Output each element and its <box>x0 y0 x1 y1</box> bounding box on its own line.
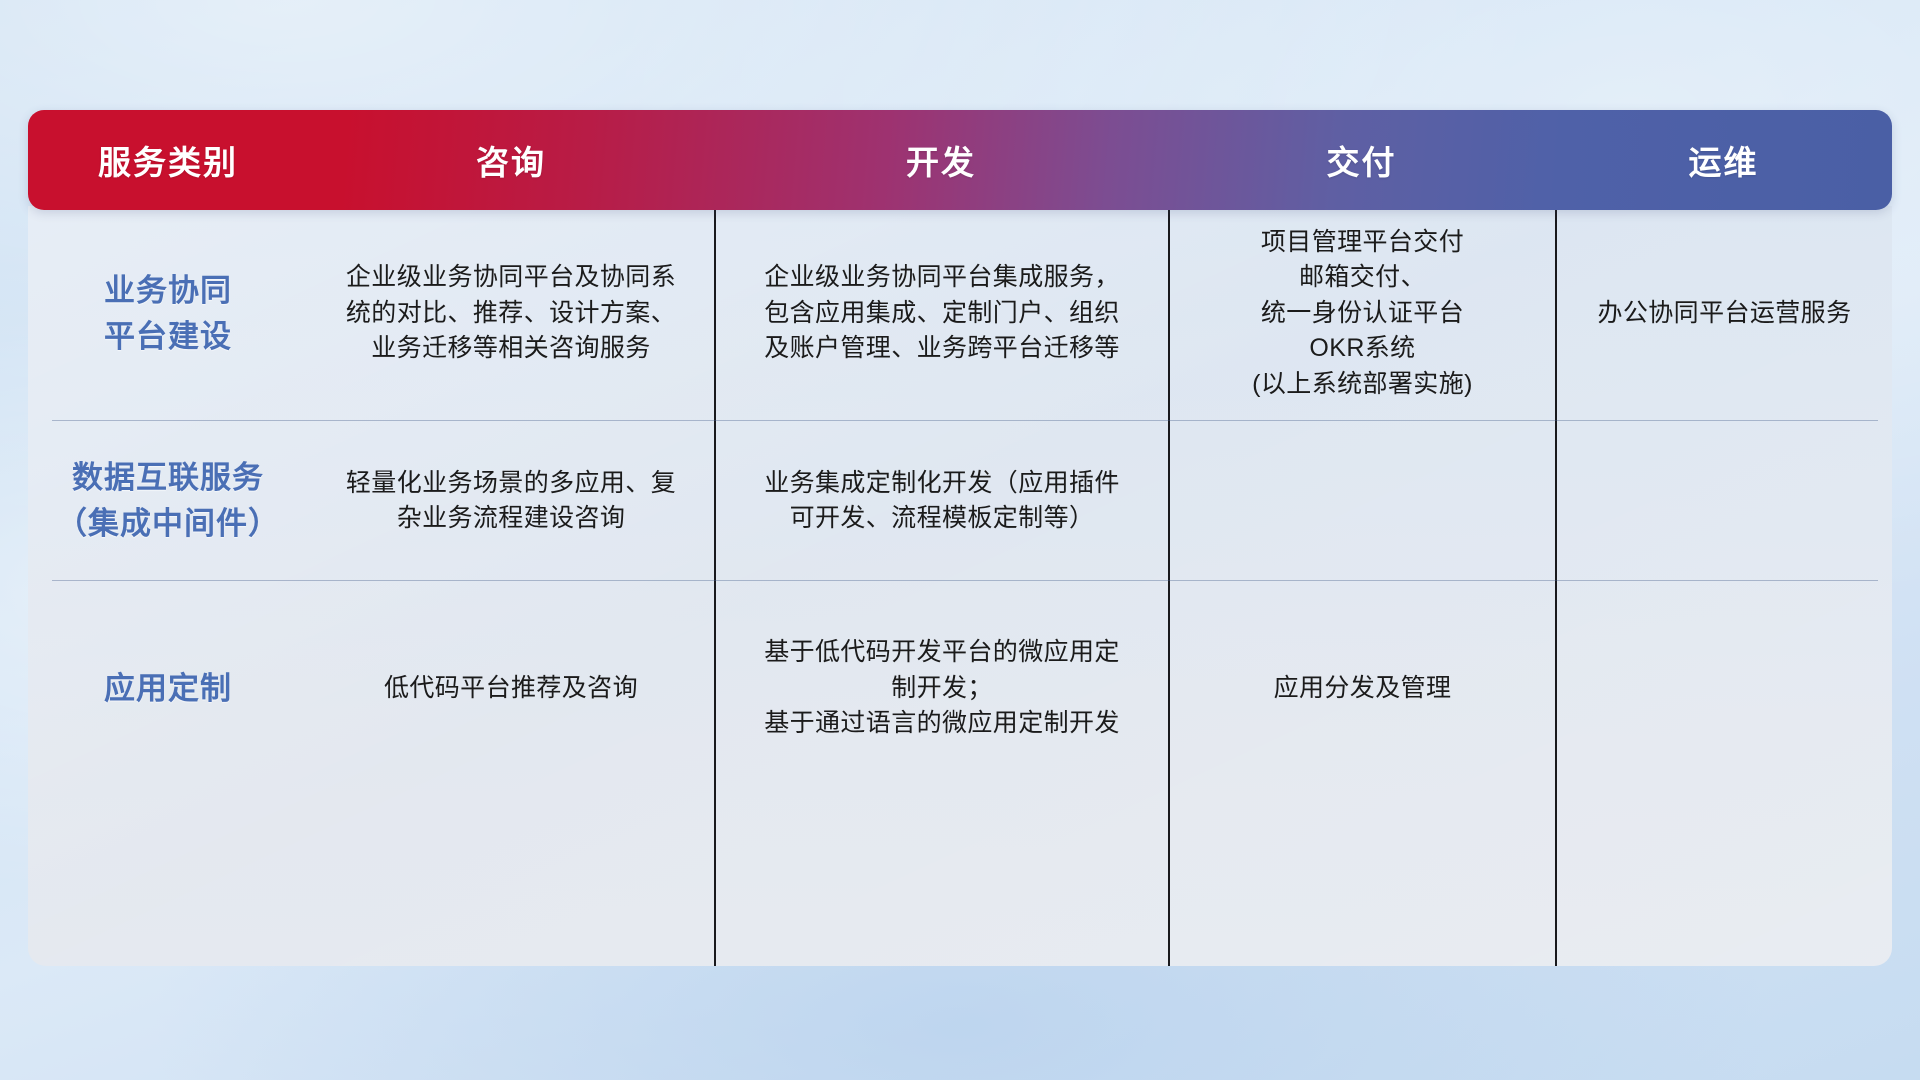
table-bottom-filler <box>28 796 1892 966</box>
table-row: 业务协同 平台建设 企业级业务协同平台及协同系 统的对比、推荐、设计方案、 业务… <box>28 206 1892 421</box>
cell-consulting-row-1: 企业级业务协同平台及协同系 统的对比、推荐、设计方案、 业务迁移等相关咨询服务 <box>308 206 714 421</box>
table-row: 应用定制 低代码平台推荐及咨询 基于低代码开发平台的微应用定 制开发； 基于通过… <box>28 581 1892 796</box>
cell-operations-row-2 <box>1555 421 1892 581</box>
column-header-service-category: 服务类别 <box>28 110 308 210</box>
table-body: 业务协同 平台建设 企业级业务协同平台及协同系 统的对比、推荐、设计方案、 业务… <box>28 206 1892 966</box>
table-header-row: 服务类别 咨询 开发 交付 运维 <box>28 110 1892 210</box>
row-label-app-customization: 应用定制 <box>28 581 308 796</box>
filler-col-0 <box>28 796 308 966</box>
cell-development-row-1: 企业级业务协同平台集成服务， 包含应用集成、定制门户、组织 及账户管理、业务跨平… <box>714 206 1168 421</box>
cell-development-row-2: 业务集成定制化开发（应用插件 可开发、流程模板定制等） <box>714 421 1168 581</box>
filler-col-3 <box>1168 796 1555 966</box>
row-label-business-collaboration: 业务协同 平台建设 <box>28 206 308 421</box>
filler-col-2 <box>714 796 1168 966</box>
table-row: 数据互联服务 （集成中间件） 轻量化业务场景的多应用、复 杂业务流程建设咨询 业… <box>28 421 1892 581</box>
column-header-delivery: 交付 <box>1168 110 1555 210</box>
cell-delivery-row-3: 应用分发及管理 <box>1168 581 1555 796</box>
cell-delivery-row-1: 项目管理平台交付 邮箱交付、 统一身份认证平台 OKR系统 (以上系统部署实施) <box>1168 206 1555 421</box>
column-header-operations: 运维 <box>1555 110 1892 210</box>
cell-delivery-row-2 <box>1168 421 1555 581</box>
filler-col-4 <box>1555 796 1892 966</box>
row-label-data-interconnect: 数据互联服务 （集成中间件） <box>28 421 308 581</box>
filler-col-1 <box>308 796 714 966</box>
cell-operations-row-1: 办公协同平台运营服务 <box>1555 206 1892 421</box>
service-matrix-table: 服务类别 咨询 开发 交付 运维 业务协同 平台建设 企业级业务协同平台及协同系… <box>28 110 1892 966</box>
cell-development-row-3: 基于低代码开发平台的微应用定 制开发； 基于通过语言的微应用定制开发 <box>714 581 1168 796</box>
cell-operations-row-3 <box>1555 581 1892 796</box>
cell-consulting-row-3: 低代码平台推荐及咨询 <box>308 581 714 796</box>
column-header-consulting: 咨询 <box>308 110 714 210</box>
column-header-development: 开发 <box>714 110 1168 210</box>
cell-consulting-row-2: 轻量化业务场景的多应用、复 杂业务流程建设咨询 <box>308 421 714 581</box>
